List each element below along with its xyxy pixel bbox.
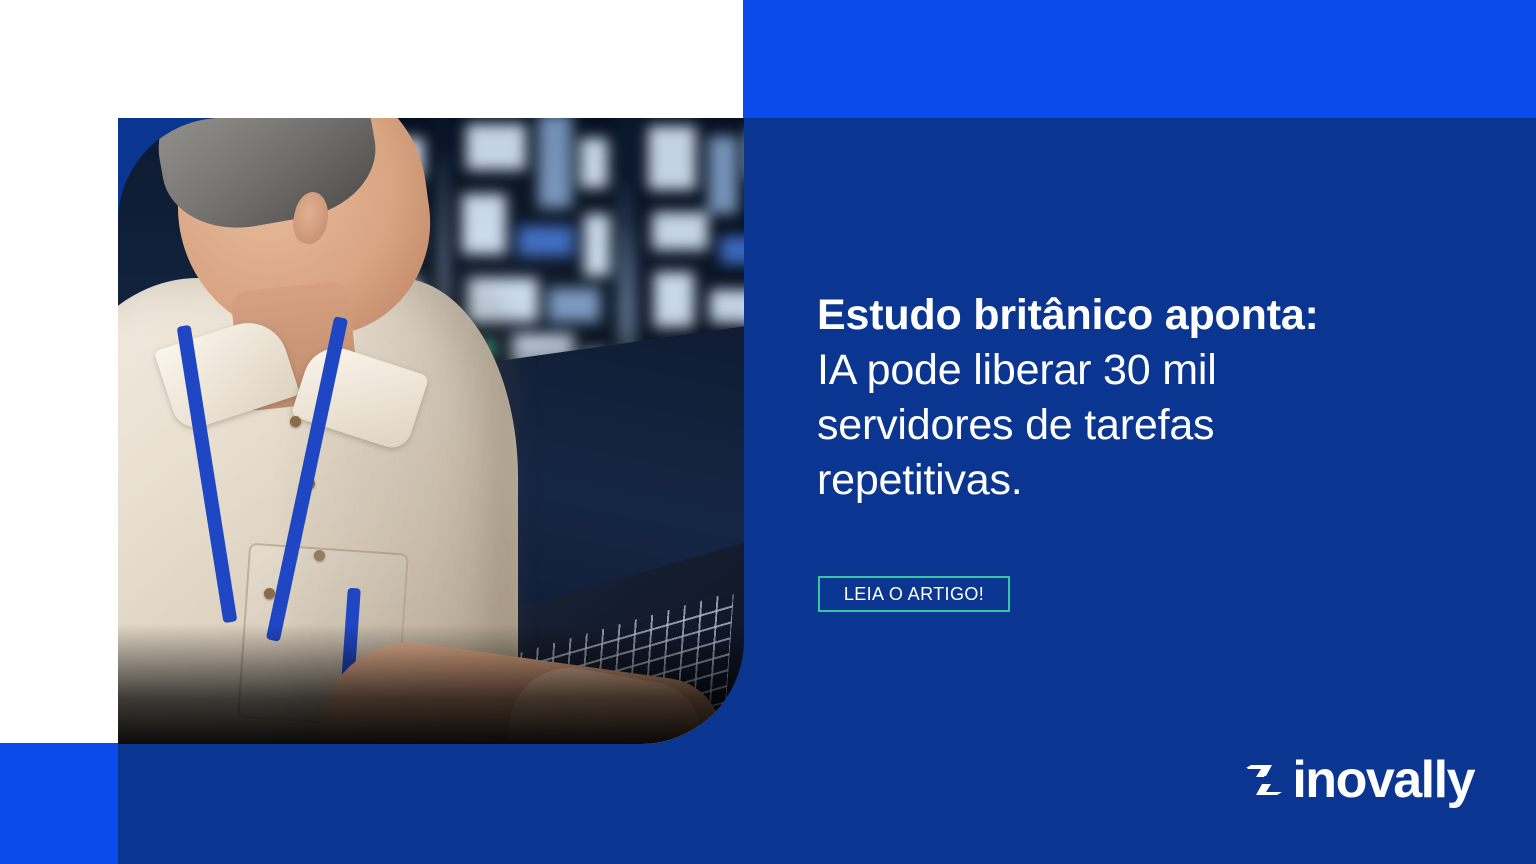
hero-photo-card — [118, 118, 744, 744]
social-media-banner: Estudo britânico aponta: IA pode liberar… — [0, 0, 1536, 864]
pocket-button — [264, 588, 275, 599]
headline-line-four: repetitivas. — [817, 453, 1477, 508]
datacenter-photo — [118, 118, 744, 744]
read-article-button[interactable]: LEIA O ARTIGO! — [818, 576, 1010, 612]
inovally-s-mark-icon — [1240, 756, 1288, 804]
background-white-left-block — [0, 118, 118, 743]
headline-line-bold: Estudo britânico aponta: — [817, 288, 1477, 343]
headline-line-two: IA pode liberar 30 mil — [817, 343, 1477, 398]
page-title: Estudo britânico aponta: IA pode liberar… — [817, 288, 1477, 508]
background-bright-blue-corner — [0, 743, 118, 864]
shirt-button-top — [290, 416, 301, 427]
headline-block: Estudo britânico aponta: IA pode liberar… — [817, 288, 1477, 508]
brand-logo: inovally — [1240, 754, 1474, 806]
photo-bottom-shadow — [118, 624, 744, 744]
logo-wordmark: inovally — [1292, 754, 1474, 806]
background-white-top-block — [0, 0, 743, 118]
background-bright-blue-top — [743, 0, 1536, 118]
headline-line-three: servidores de tarefas — [817, 398, 1477, 453]
